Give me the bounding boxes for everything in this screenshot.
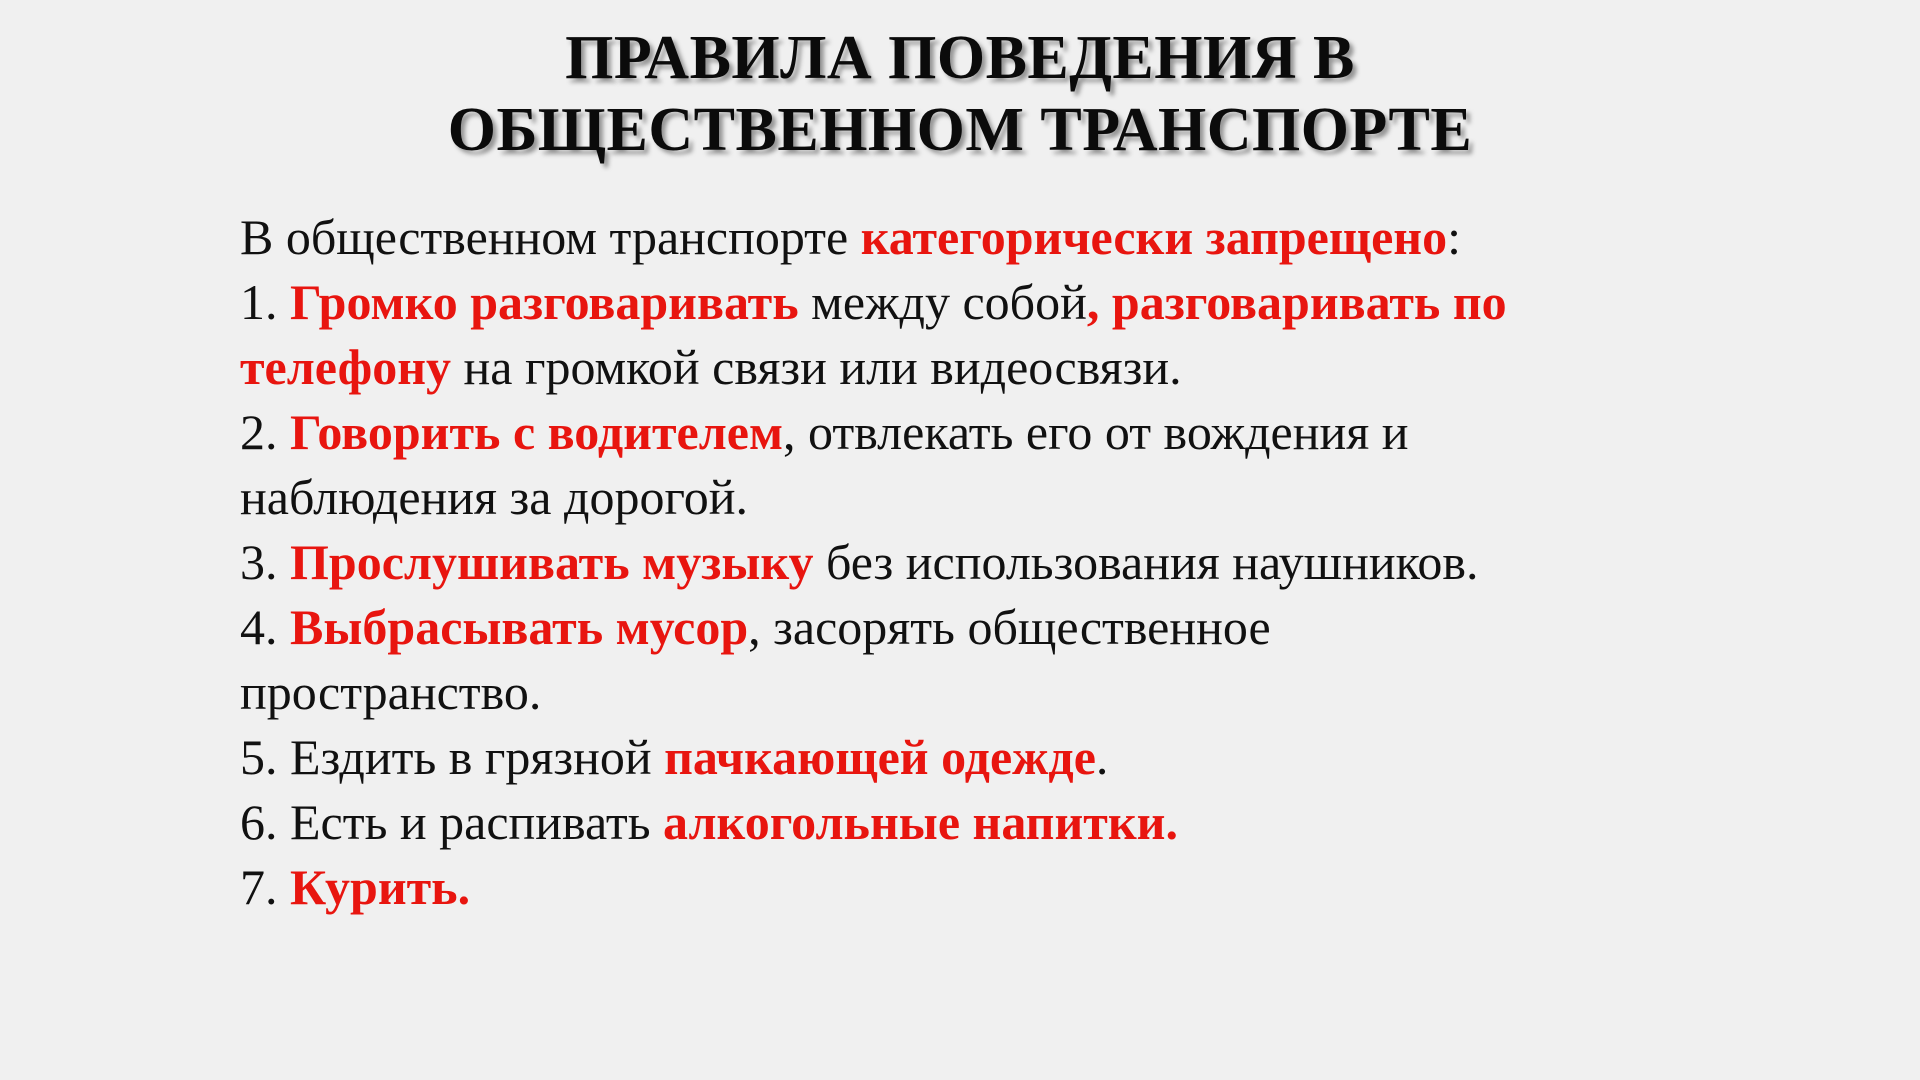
rule-item: 5. Ездить в грязной пачкающей одежде. bbox=[240, 725, 1860, 790]
rule-item-continuation: наблюдения за дорогой. bbox=[240, 465, 1860, 530]
page-title: ПРАВИЛА ПОВЕДЕНИЯ В ОБЩЕСТВЕННОМ ТРАНСПО… bbox=[0, 22, 1920, 166]
rule-text: , засорять общественное bbox=[748, 599, 1271, 655]
rule-item-continuation: телефону на громкой связи или видеосвязи… bbox=[240, 335, 1860, 400]
rule-number: 7. bbox=[240, 859, 278, 915]
rule-item: 3. Прослушивать музыку без использования… bbox=[240, 530, 1860, 595]
rule-text-emphasis: разговаривать по bbox=[1099, 274, 1506, 330]
title-line-2: ОБЩЕСТВЕННОМ ТРАНСПОРТЕ bbox=[0, 94, 1920, 166]
rule-item: 4. Выбрасывать мусор, засорять обществен… bbox=[240, 595, 1860, 660]
rules-list: 1. Громко разговаривать между собой, раз… bbox=[240, 270, 1860, 920]
rule-text-emphasis: алкогольные напитки bbox=[663, 794, 1165, 850]
intro-prefix: В общественном транспорте bbox=[240, 209, 861, 265]
intro-suffix: : bbox=[1447, 209, 1461, 265]
rules-body: В общественном транспорте категорически … bbox=[240, 205, 1860, 920]
rule-text: , отвлекать его от вождения и bbox=[783, 404, 1409, 460]
rule-item: 1. Громко разговаривать между собой, раз… bbox=[240, 270, 1860, 335]
rule-text: пространство. bbox=[240, 664, 541, 720]
rule-text-emphasis: Курить bbox=[278, 859, 458, 915]
rule-item: 6. Есть и распивать алкогольные напитки. bbox=[240, 790, 1860, 855]
rule-text-emphasis: Говорить с водителем bbox=[278, 404, 784, 460]
rule-number: 4. bbox=[240, 599, 278, 655]
rule-text: на громкой связи или видеосвязи. bbox=[451, 339, 1182, 395]
rule-text: Ездить в грязной bbox=[278, 729, 665, 785]
intro-highlight: категорически запрещено bbox=[861, 209, 1447, 265]
rule-item-continuation: пространство. bbox=[240, 660, 1860, 725]
rule-text-emphasis: телефону bbox=[240, 339, 451, 395]
rule-item: 7. Курить. bbox=[240, 855, 1860, 920]
title-line-1: ПРАВИЛА ПОВЕДЕНИЯ В bbox=[0, 22, 1920, 94]
rule-number: 5. bbox=[240, 729, 278, 785]
slide-root: ПРАВИЛА ПОВЕДЕНИЯ В ОБЩЕСТВЕННОМ ТРАНСПО… bbox=[0, 0, 1920, 1080]
rule-text: между собой bbox=[799, 274, 1087, 330]
rule-item: 2. Говорить с водителем, отвлекать его о… bbox=[240, 400, 1860, 465]
rule-text: . bbox=[1096, 729, 1109, 785]
rule-text: без использования наушников. bbox=[813, 534, 1478, 590]
rule-text-emphasis: Громко разговаривать bbox=[278, 274, 799, 330]
rule-text-emphasis: , bbox=[1087, 274, 1100, 330]
rule-number: 3. bbox=[240, 534, 278, 590]
rule-text: Есть и распивать bbox=[278, 794, 664, 850]
rule-number: 1. bbox=[240, 274, 278, 330]
rule-text-emphasis: Выбрасывать мусор bbox=[278, 599, 749, 655]
rule-text-emphasis: . bbox=[1165, 794, 1178, 850]
rule-text-emphasis: Прослушивать музыку bbox=[278, 534, 814, 590]
rule-text: наблюдения за дорогой. bbox=[240, 469, 748, 525]
rule-text-emphasis: пачкающей одежде bbox=[664, 729, 1096, 785]
rule-number: 2. bbox=[240, 404, 278, 460]
rule-number: 6. bbox=[240, 794, 278, 850]
rule-text-emphasis: . bbox=[458, 859, 471, 915]
intro-line: В общественном транспорте категорически … bbox=[240, 205, 1860, 270]
